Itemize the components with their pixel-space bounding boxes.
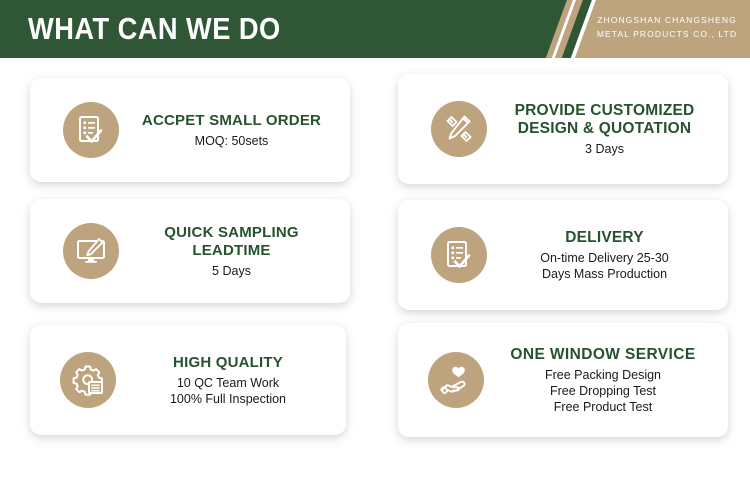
card-subtitle: 10 QC Team Work 100% Full Inspection <box>122 375 334 407</box>
gear-document-icon <box>60 352 116 408</box>
clipboard-check-icon <box>431 227 487 283</box>
page-root: WHAT CAN WE DO ZHONGSHAN CHANGSHENG META… <box>0 0 750 477</box>
page-title: WHAT CAN WE DO <box>28 8 281 50</box>
card-body: ONE WINDOW SERVICE Free Packing Design F… <box>484 346 728 415</box>
card-title: ACCPET SMALL ORDER <box>125 112 338 130</box>
card-body: HIGH QUALITY 10 QC Team Work 100% Full I… <box>116 354 346 407</box>
service-card-customized-design[interactable]: PROVIDE CUSTOMIZED DESIGN & QUOTATION 3 … <box>398 74 728 184</box>
card-subtitle: Free Packing Design Free Dropping Test F… <box>490 367 716 415</box>
service-card-delivery[interactable]: DELIVERY On-time Delivery 25-30 Days Mas… <box>398 200 728 310</box>
card-title: ONE WINDOW SERVICE <box>490 346 716 364</box>
card-subtitle: 5 Days <box>125 263 338 279</box>
card-body: DELIVERY On-time Delivery 25-30 Days Mas… <box>487 229 728 282</box>
card-body: PROVIDE CUSTOMIZED DESIGN & QUOTATION 3 … <box>487 102 728 157</box>
card-body: QUICK SAMPLING LEADTIME 5 Days <box>119 224 350 279</box>
company-name-line2: METAL PRODUCTS CO., LTD <box>592 27 742 41</box>
service-card-accept-small-order[interactable]: ACCPET SMALL ORDER MOQ: 50sets <box>30 78 350 182</box>
service-card-grid: ACCPET SMALL ORDER MOQ: 50sets <box>0 58 750 477</box>
card-title: QUICK SAMPLING LEADTIME <box>125 224 338 260</box>
service-card-quick-sampling[interactable]: QUICK SAMPLING LEADTIME 5 Days <box>30 199 350 303</box>
pencil-ruler-icon <box>431 101 487 157</box>
monitor-pencil-icon <box>63 223 119 279</box>
service-card-high-quality[interactable]: HIGH QUALITY 10 QC Team Work 100% Full I… <box>30 325 346 435</box>
card-title: DELIVERY <box>493 229 716 247</box>
company-name: ZHONGSHAN CHANGSHENG METAL PRODUCTS CO.,… <box>592 13 742 41</box>
card-title: PROVIDE CUSTOMIZED DESIGN & QUOTATION <box>493 102 716 138</box>
company-name-line1: ZHONGSHAN CHANGSHENG <box>592 13 742 27</box>
card-body: ACCPET SMALL ORDER MOQ: 50sets <box>119 112 350 149</box>
card-subtitle: 3 Days <box>493 141 716 157</box>
hand-heart-icon <box>428 352 484 408</box>
service-card-one-window-service[interactable]: ONE WINDOW SERVICE Free Packing Design F… <box>398 323 728 437</box>
card-subtitle: On-time Delivery 25-30 Days Mass Product… <box>493 250 716 282</box>
card-title: HIGH QUALITY <box>122 354 334 372</box>
page-header: WHAT CAN WE DO ZHONGSHAN CHANGSHENG META… <box>0 0 750 58</box>
clipboard-check-icon <box>63 102 119 158</box>
card-subtitle: MOQ: 50sets <box>125 133 338 149</box>
